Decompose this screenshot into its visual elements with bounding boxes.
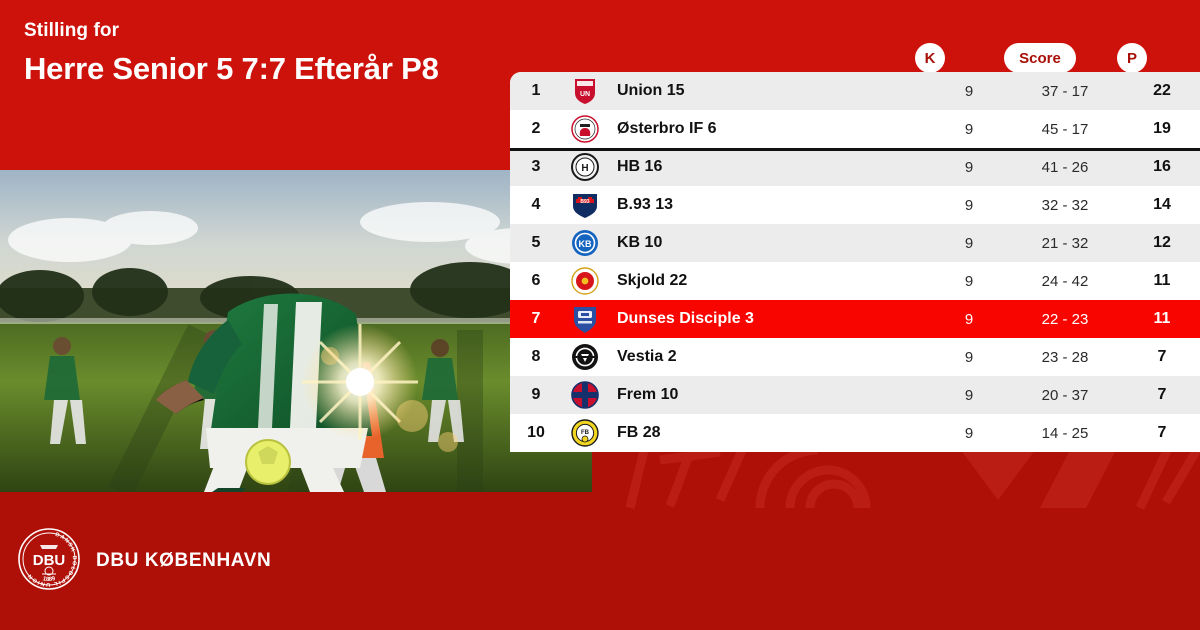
row-rank: 8 [510,348,562,366]
row-points: 7 [1124,386,1200,404]
page-title: Herre Senior 5 7:7 Efterår P8 [24,50,504,88]
hero-photo [0,170,592,492]
row-team-name: B.93 13 [608,196,932,214]
svg-text:1889: 1889 [42,576,57,583]
row-team-name: KB 10 [608,234,932,252]
table-row[interactable]: 1 UN Union 15 9 37 - 17 22 [510,72,1200,110]
table-row[interactable]: 2 Østerbro IF 6 9 45 - 17 19 [510,110,1200,148]
row-matches: 9 [932,83,1006,100]
row-matches: 9 [932,121,1006,138]
dunses-badge [562,305,608,333]
row-points: 7 [1124,348,1200,366]
row-rank: 10 [510,424,562,442]
footer: DANSK BOLDSPIL UNION 1889 DBU DBU KØBENH… [0,492,1200,630]
row-rank: 2 [510,120,562,138]
column-header-p: P [1117,43,1147,73]
column-header-score: Score [1004,43,1076,73]
column-header-pills: K Score P [510,43,1200,73]
row-rank: 3 [510,158,562,176]
row-points: 11 [1124,310,1200,328]
row-rank: 4 [510,196,562,214]
row-score: 45 - 17 [1006,121,1124,138]
row-team-name: Union 15 [608,82,932,100]
kb-badge: KB [562,229,608,257]
frem-badge [562,381,608,409]
table-row[interactable]: 5 KB KB 10 9 21 - 32 12 [510,224,1200,262]
svg-text:DBU: DBU [33,552,66,569]
row-score: 37 - 17 [1006,83,1124,100]
fb-badge: FB [562,419,608,447]
svg-text:KB: KB [579,239,592,249]
table-row-highlighted[interactable]: 7 Dunses Disciple 3 9 22 - 23 11 [510,300,1200,338]
row-rank: 7 [510,310,562,328]
row-team-name: Skjold 22 [608,272,932,290]
svg-text:B93: B93 [580,199,589,205]
row-matches: 9 [932,311,1006,328]
table-row[interactable]: 10 FB FB 28 9 14 - 25 7 [510,414,1200,452]
table-row[interactable]: 8 Vestia 2 9 23 - 28 7 [510,338,1200,376]
table-row[interactable]: 4 B93 B.93 13 9 32 - 32 14 [510,186,1200,224]
column-header-k: K [915,43,945,73]
row-matches: 9 [932,159,1006,176]
row-points: 19 [1124,120,1200,138]
header-kicker: Stilling for [24,20,504,42]
dbu-logo-icon: DANSK BOLDSPIL UNION 1889 DBU [18,528,80,595]
table-row[interactable]: 3 H HB 16 9 41 - 26 16 [510,148,1200,186]
organization-name: DBU KØBENHAVN [96,550,271,572]
skjold-badge [562,267,608,295]
row-rank: 9 [510,386,562,404]
row-score: 41 - 26 [1006,159,1124,176]
row-team-name: HB 16 [608,158,932,176]
row-matches: 9 [932,273,1006,290]
svg-text:FB: FB [581,430,590,436]
row-matches: 9 [932,425,1006,442]
row-score: 14 - 25 [1006,425,1124,442]
standings-table: 1 UN Union 15 9 37 - 17 22 2 Østerbro IF… [510,72,1200,452]
row-matches: 9 [932,197,1006,214]
row-rank: 1 [510,82,562,100]
b93-badge: B93 [562,192,608,218]
svg-text:H: H [581,163,588,174]
row-points: 22 [1124,82,1200,100]
svg-text:UN: UN [580,91,590,98]
row-score: 22 - 23 [1006,311,1124,328]
page-header: Stilling for Herre Senior 5 7:7 Efterår … [24,20,504,88]
row-team-name: FB 28 [608,424,932,442]
row-score: 32 - 32 [1006,197,1124,214]
row-points: 12 [1124,234,1200,252]
row-rank: 5 [510,234,562,252]
row-team-name: Frem 10 [608,386,932,404]
row-matches: 9 [932,235,1006,252]
row-team-name: Dunses Disciple 3 [608,310,932,328]
table-row[interactable]: 6 Skjold 22 9 24 - 42 11 [510,262,1200,300]
poster-canvas: Stilling for Herre Senior 5 7:7 Efterår … [0,0,1200,630]
osterbro-badge [562,115,608,143]
row-points: 16 [1124,158,1200,176]
row-team-name: Vestia 2 [608,348,932,366]
vestia-badge [562,343,608,371]
table-row[interactable]: 9 Frem 10 9 20 - 37 7 [510,376,1200,414]
row-matches: 9 [932,349,1006,366]
row-points: 14 [1124,196,1200,214]
row-score: 20 - 37 [1006,387,1124,404]
row-team-name: Østerbro IF 6 [608,120,932,138]
row-score: 23 - 28 [1006,349,1124,366]
row-rank: 6 [510,272,562,290]
row-score: 24 - 42 [1006,273,1124,290]
row-points: 11 [1124,272,1200,290]
row-score: 21 - 32 [1006,235,1124,252]
union-badge: UN [562,77,608,105]
hb-badge: H [562,153,608,181]
row-points: 7 [1124,424,1200,442]
row-matches: 9 [932,387,1006,404]
